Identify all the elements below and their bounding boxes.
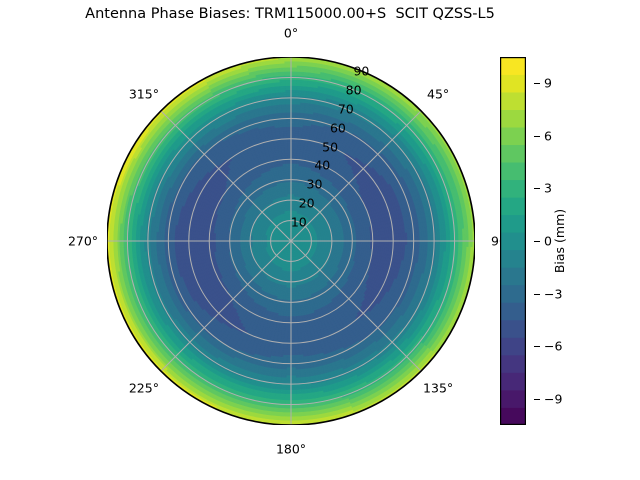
angular-tick-label-180: 180°: [276, 442, 306, 457]
colorbar-tick-mark: [534, 399, 540, 400]
radial-tick-label-20: 20: [299, 196, 315, 211]
polar-bias-figure: Antenna Phase Biases: TRM115000.00+S SCI…: [0, 0, 640, 480]
angular-tick-label-270: 270°: [68, 234, 98, 249]
angular-tick-label-315: 315°: [129, 86, 159, 101]
colorbar-tick-mark: [534, 188, 540, 189]
colorbar-tick-mark: [534, 241, 540, 242]
colorbar-gradient: [500, 57, 526, 425]
radial-tick-label-90: 90: [353, 64, 369, 79]
angular-tick-label-225: 225°: [129, 381, 159, 396]
polar-plot[interactable]: 0°45°90135°180°225°270°315°1020304050607…: [107, 57, 475, 425]
page-title: Antenna Phase Biases: TRM115000.00+S SCI…: [0, 6, 580, 22]
colorbar-tick-mark: [534, 294, 540, 295]
colorbar-tick-mark: [534, 136, 540, 137]
angular-tick-label-0: 0°: [284, 26, 298, 41]
colorbar[interactable]: [500, 57, 526, 425]
colorbar-tick-mark: [534, 83, 540, 84]
radial-tick-label-30: 30: [307, 177, 323, 192]
angular-tick-label-45: 45°: [427, 86, 449, 101]
colorbar-tick-mark: [534, 346, 540, 347]
radial-tick-label-80: 80: [346, 82, 362, 97]
radial-tick-label-10: 10: [291, 215, 307, 230]
polar-plot-canvas: [107, 57, 475, 425]
radial-tick-label-60: 60: [330, 120, 346, 135]
radial-tick-label-40: 40: [314, 158, 330, 173]
angular-tick-label-135: 135°: [423, 381, 453, 396]
colorbar-axis-label: Bias (mm): [548, 57, 572, 425]
radial-tick-label-50: 50: [322, 139, 338, 154]
radial-tick-label-70: 70: [338, 101, 354, 116]
